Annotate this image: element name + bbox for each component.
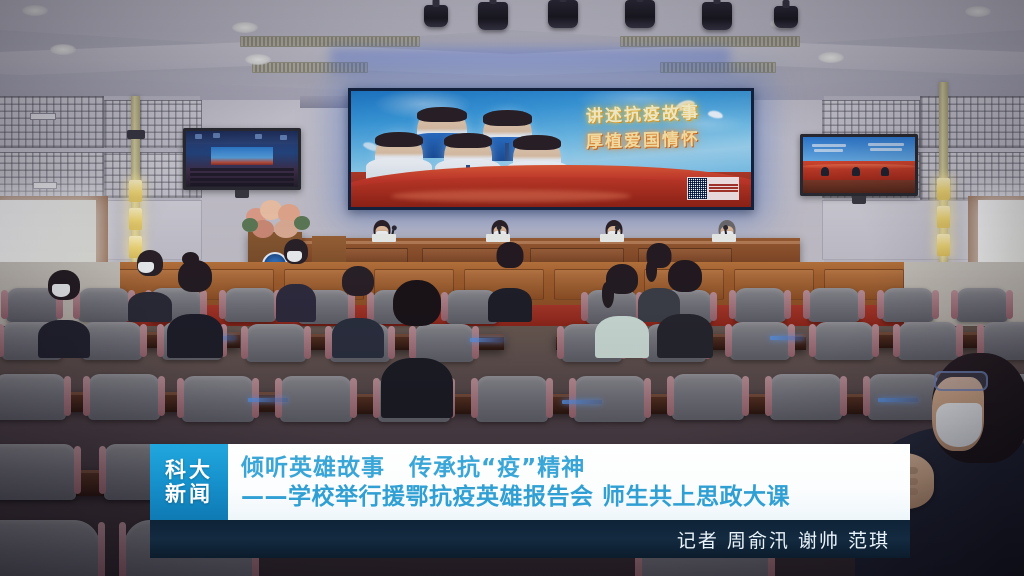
face-mask [138, 262, 154, 273]
headline-block: 倾听英雄故事 传承抗“疫”精神 ——学校举行援鄂抗疫英雄报告会 师生共上思政大课 [228, 444, 910, 520]
channel-logo: 科大 新闻 [150, 444, 228, 520]
ponytail [602, 282, 614, 308]
lower-third-main: 科大 新闻 倾听英雄故事 传承抗“疫”精神 ——学校举行援鄂抗疫英雄报告会 师生… [150, 444, 910, 520]
led-credit-lines [708, 178, 738, 199]
seat [0, 444, 76, 500]
eyeglasses-icon [934, 371, 988, 391]
seat [280, 376, 352, 422]
hair-bun [182, 252, 199, 266]
panel-paper [600, 234, 624, 242]
audience-member [598, 294, 646, 358]
wall-sconce [937, 178, 950, 200]
wall-sconce [937, 206, 950, 228]
seat [574, 376, 646, 422]
channel-logo-line1: 科大 [165, 459, 213, 482]
monitor-screen [803, 137, 915, 193]
stage-light [702, 2, 732, 30]
broadcast-frame: 讲述抗疫故事 厚植爱国情怀 [0, 0, 1024, 576]
ceiling-light-glow [330, 48, 730, 74]
seat [956, 288, 1008, 322]
ceiling-band-upper [0, 0, 1024, 46]
channel-logo-line2: 新闻 [165, 483, 213, 506]
desk-light-strip [248, 398, 288, 402]
led-headline: 讲述抗疫故事 厚植爱国情怀 [547, 105, 739, 153]
audience-member [490, 268, 530, 322]
acoustic-panel [920, 96, 1024, 148]
audience-member [334, 296, 382, 358]
led-credit-block [687, 177, 739, 200]
seat [246, 324, 306, 362]
headline-secondary: ——学校举行援鄂抗疫英雄报告会 师生共上思政大课 [241, 483, 898, 511]
seat [808, 288, 860, 322]
side-monitor-left [183, 128, 301, 190]
seat [814, 322, 874, 360]
wall-sconce [129, 208, 142, 230]
desk-light-strip [562, 400, 602, 404]
downlight [965, 6, 991, 17]
stage-light [625, 0, 655, 28]
led-stage-screen: 讲述抗疫故事 厚植爱国情怀 [348, 88, 754, 210]
monitor-stand [852, 196, 866, 204]
seat [0, 374, 66, 420]
acoustic-panel [0, 152, 104, 200]
seat [182, 376, 254, 422]
headline-primary: 倾听英雄故事 传承抗“疫”精神 [241, 454, 898, 482]
acoustic-panel-label [33, 182, 57, 189]
audience-member [40, 300, 88, 358]
desk-light-strip [470, 338, 504, 342]
downlight [245, 54, 271, 65]
seat [882, 288, 934, 322]
face-mask [936, 403, 982, 447]
seat [898, 322, 958, 360]
face-mask [52, 284, 70, 297]
qr-code-icon [688, 178, 707, 199]
side-monitor-right [800, 134, 918, 196]
stage-light [548, 0, 578, 28]
seat [88, 374, 160, 420]
led-headline-line2: 厚植爱国情怀 [547, 129, 739, 155]
wall-sconce [937, 234, 950, 256]
seat [770, 374, 842, 420]
downlight [818, 52, 844, 63]
reporter-credit: 记者 周俞汛 谢帅 范琪 [677, 526, 890, 553]
seat [734, 288, 786, 322]
window [0, 200, 96, 268]
security-camera-icon [127, 130, 145, 139]
audience-member [386, 326, 448, 418]
seat [82, 322, 142, 360]
face-mask [287, 251, 302, 262]
panel-paper [372, 234, 396, 242]
wall-sconce [129, 180, 142, 202]
seat [0, 520, 100, 576]
downlight [232, 22, 258, 33]
panel-paper [712, 234, 736, 242]
desk-light-strip [770, 336, 804, 340]
seat [224, 288, 276, 322]
air-vent [620, 36, 800, 47]
downlight [22, 5, 48, 16]
seat [672, 374, 744, 420]
wall-light-column [131, 96, 140, 281]
led-screen-content: 讲述抗疫故事 厚植爱国情怀 [351, 91, 751, 207]
reporter-credit-bar: 记者 周俞汛 谢帅 范琪 [150, 520, 910, 558]
monitor-stand [235, 190, 249, 198]
audience-member [660, 292, 710, 358]
seat [476, 376, 548, 422]
lower-third-banner: 科大 新闻 倾听英雄故事 传承抗“疫”精神 ——学校举行援鄂抗疫英雄报告会 师生… [150, 444, 910, 558]
air-vent [240, 36, 420, 47]
audience-member [130, 276, 170, 322]
downlight [50, 44, 76, 55]
stage-light [478, 2, 508, 30]
led-headline-line1: 讲述抗疫故事 [547, 102, 740, 130]
audience-member [278, 264, 314, 322]
acoustic-panel-label [30, 113, 56, 120]
acoustic-panel [920, 152, 1024, 200]
ponytail [646, 260, 657, 282]
monitor-screen [186, 131, 298, 187]
audience-member [170, 292, 220, 358]
acoustic-panel [0, 96, 104, 148]
podium-flowers [240, 198, 312, 242]
stage-light [424, 5, 448, 27]
seat [730, 322, 790, 360]
stage-light [774, 6, 798, 28]
panel-paper [486, 234, 510, 242]
